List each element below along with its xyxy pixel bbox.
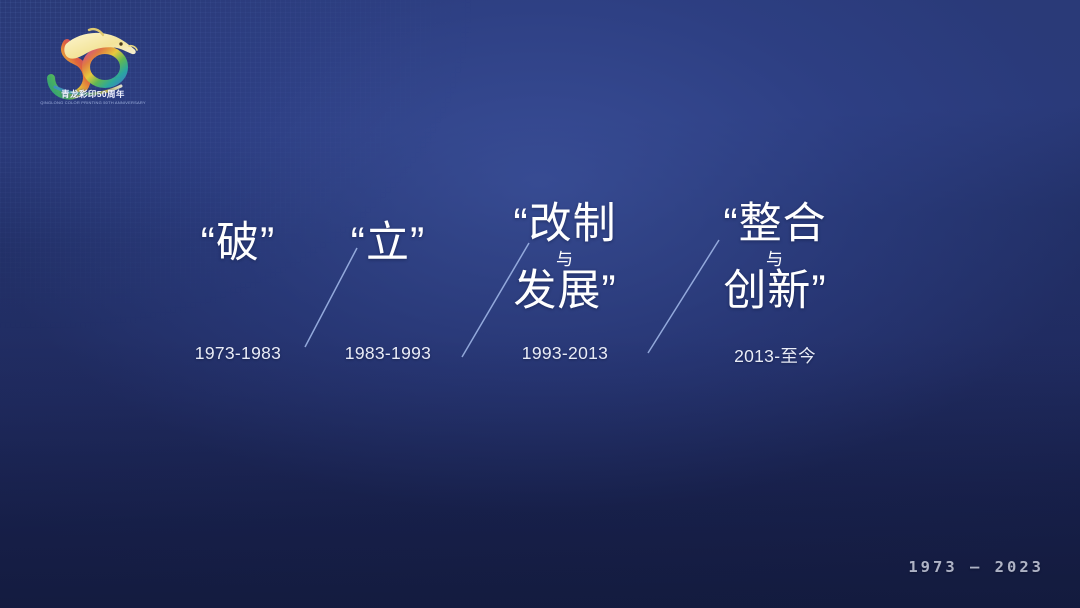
footer-year-range: 1973 — 2023 bbox=[908, 558, 1044, 576]
phase-4-title-line1: “整合 bbox=[700, 203, 850, 247]
timeline: “破” “立” “改制 与 发展” “整合 与 创新” 1973-1983 19… bbox=[0, 0, 1080, 608]
timeline-phase-3: “改制 与 发展” bbox=[490, 203, 640, 314]
phase-4-years: 2013-至今 bbox=[695, 343, 855, 368]
phase-2-title: “立” bbox=[324, 222, 452, 266]
slide-canvas: 青龙彩印50周年 QINGLONG COLOR PRINTING 50TH AN… bbox=[0, 0, 1080, 608]
phase-3-connector: 与 bbox=[490, 251, 640, 268]
phase-1-years-wrap: 1973-1983 bbox=[168, 343, 308, 367]
phase-2-years: 1983-1993 bbox=[324, 343, 452, 364]
timeline-phase-4: “整合 与 创新” bbox=[700, 203, 850, 314]
phase-1-years: 1973-1983 bbox=[168, 343, 308, 364]
phase-3-years: 1993-2013 bbox=[490, 343, 640, 364]
phase-4-years-wrap: 2013-至今 bbox=[695, 343, 855, 367]
phase-3-years-wrap: 1993-2013 bbox=[490, 343, 640, 367]
phase-1-title: “破” bbox=[168, 222, 308, 266]
timeline-phase-1: “破” bbox=[168, 222, 308, 266]
phase-3-title-line1: “改制 bbox=[490, 203, 640, 247]
phase-4-connector: 与 bbox=[700, 251, 850, 268]
phase-3-title-line2: 发展” bbox=[490, 270, 640, 314]
phase-4-title-line2: 创新” bbox=[700, 270, 850, 314]
timeline-phase-2: “立” bbox=[324, 222, 452, 266]
phase-2-years-wrap: 1983-1993 bbox=[324, 343, 452, 367]
